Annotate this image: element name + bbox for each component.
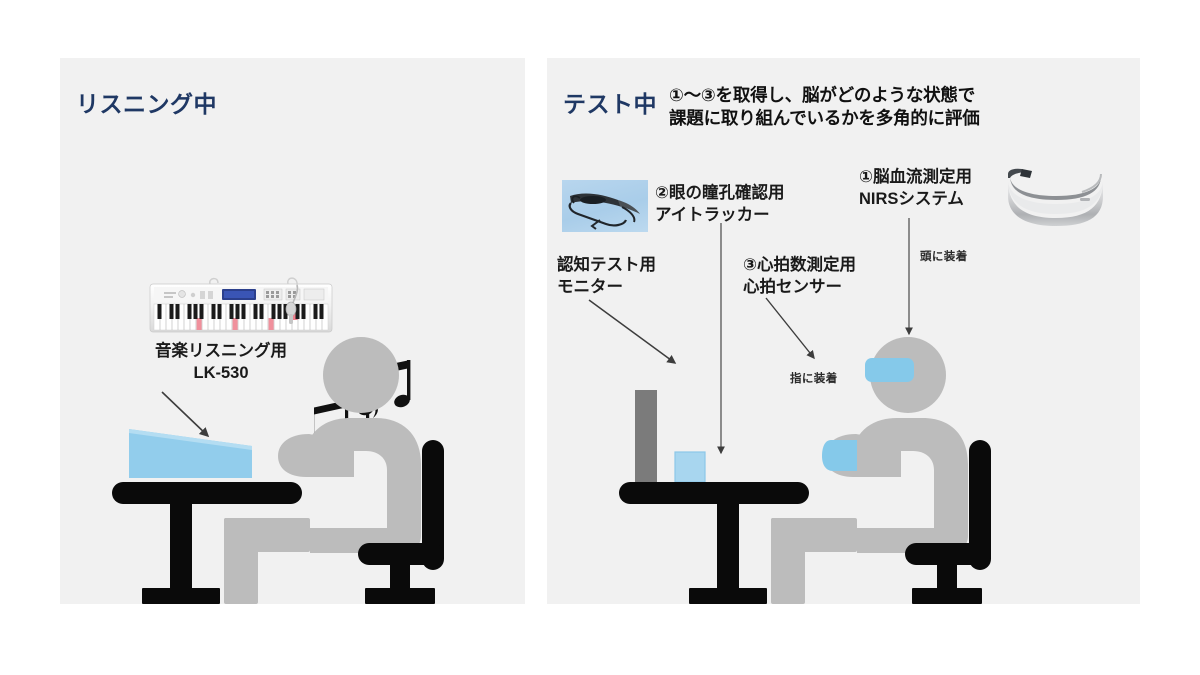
figure-canvas: リスニング中 bbox=[0, 0, 1200, 675]
panel-listening-title: リスニング中 bbox=[76, 85, 217, 119]
nirs-band-on-head bbox=[865, 358, 914, 382]
cognitive-test-monitor bbox=[635, 390, 657, 482]
keyboard-on-desk bbox=[129, 429, 252, 478]
panel-listening: リスニング中 bbox=[60, 58, 525, 604]
listening-scene-pictogram bbox=[60, 330, 525, 604]
heart-sensor-on-hand bbox=[822, 440, 857, 471]
panel-testing: テスト中 ①～③を取得し、脳がどのような状態で 課題に取り組んでいるかを多角的に… bbox=[547, 58, 1140, 604]
testing-scene-pictogram bbox=[607, 330, 1140, 604]
eye-tracker-on-desk bbox=[675, 452, 705, 482]
keyboard-photo-lk530 bbox=[148, 276, 334, 338]
